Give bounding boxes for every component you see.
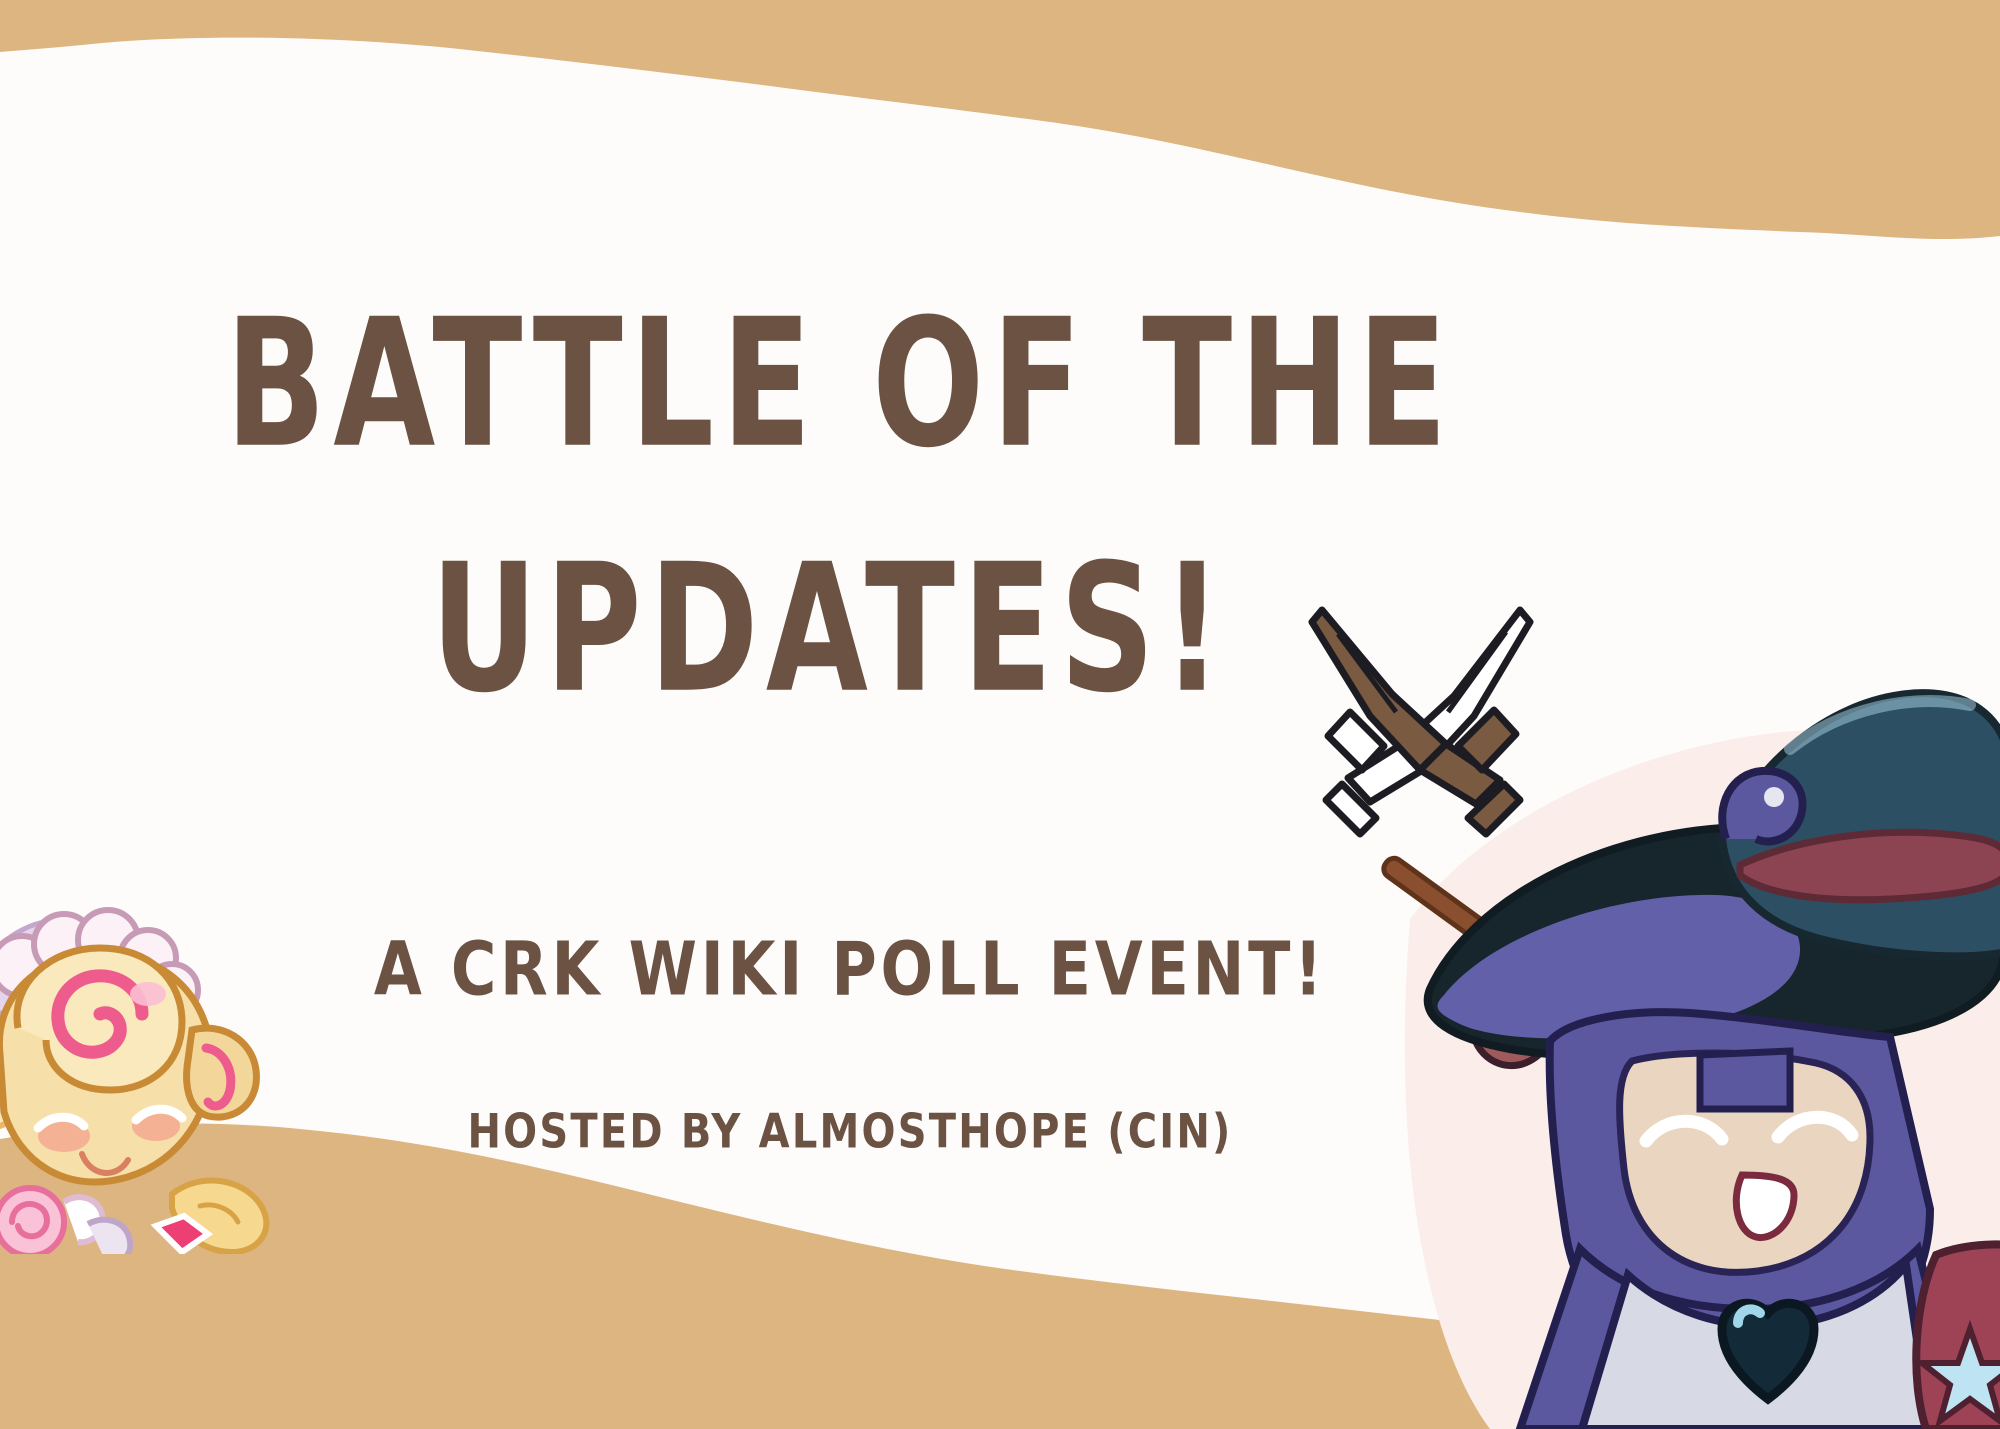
host-byline: HOSTED BY ALMOSTHOPE (CIN) (300, 1105, 1400, 1159)
top-wave-shape (0, 0, 2000, 239)
subtitle: A CRK WIKI POLL EVENT! (300, 925, 1400, 1013)
crossed-swords-icon (1298, 588, 1548, 838)
top-wave-decoration (0, 0, 2000, 320)
cookie-character-cream-swirl (0, 904, 290, 1254)
page-title-line-1: BATTLE OF THE (60, 300, 1620, 470)
poster-canvas: BATTLE OF THE UPDATES! A CRK WIKI POLL E… (0, 0, 2000, 1429)
page-title-line-2: UPDATES! (300, 545, 1360, 715)
